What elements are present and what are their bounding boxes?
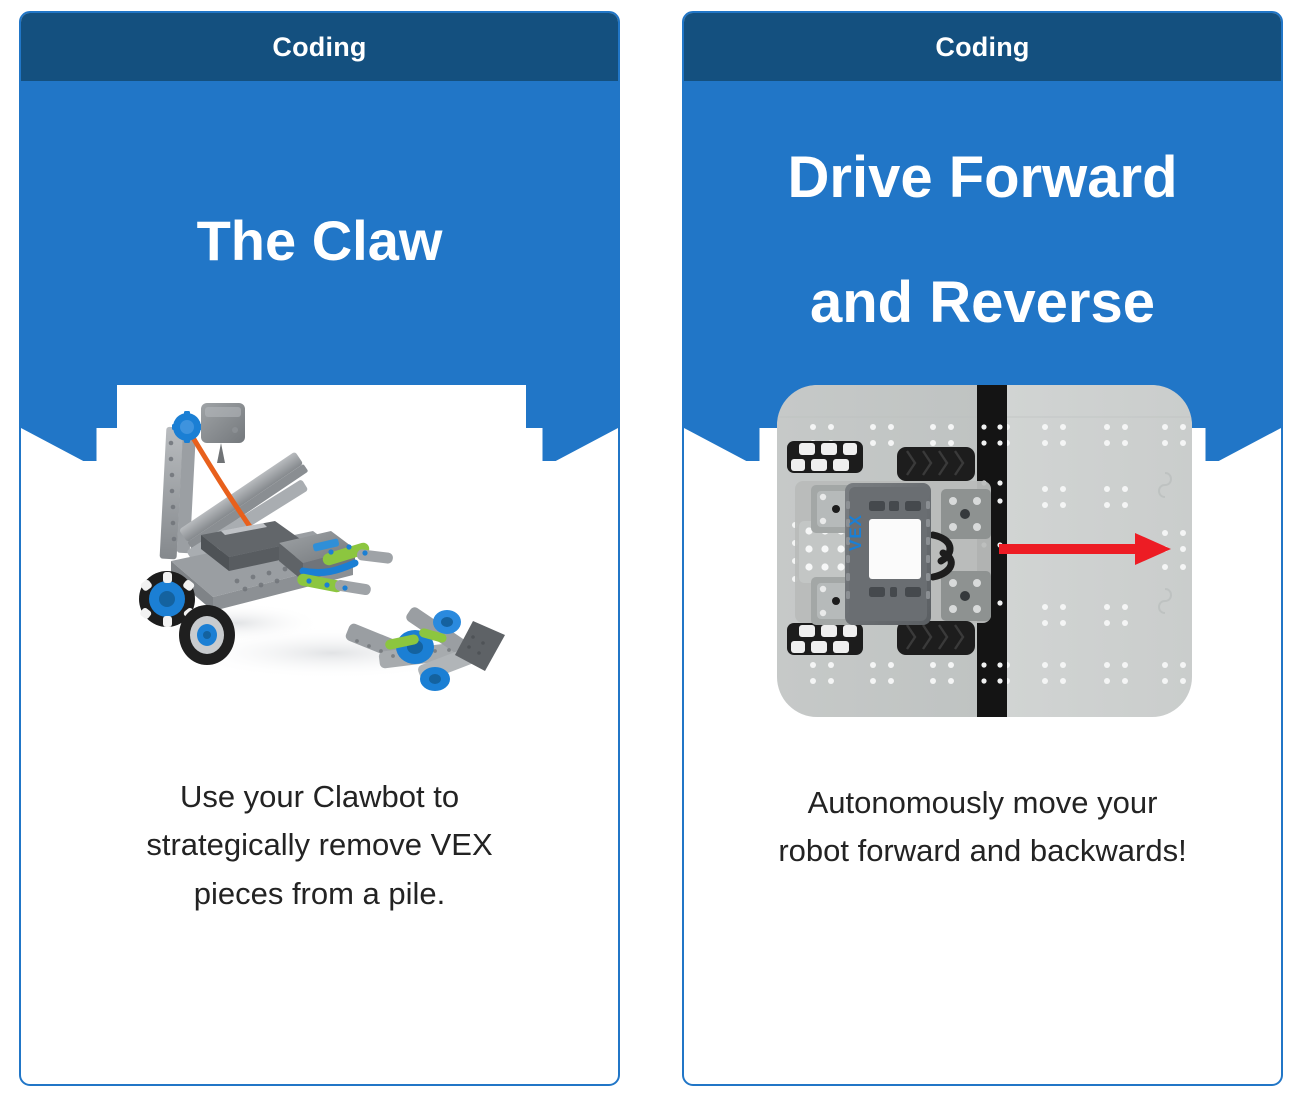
robot-top-view-illustration: VEX bbox=[777, 385, 1192, 717]
card-description: Use your Clawbot to strategically remove… bbox=[21, 773, 618, 918]
svg-text:VEX: VEX bbox=[846, 514, 865, 551]
card-description: Autonomously move your robot forward and… bbox=[684, 779, 1281, 876]
card-image-plate: VEX bbox=[777, 385, 1192, 717]
card-description-line-3: pieces from a pile. bbox=[79, 870, 560, 918]
card-description-line-2: strategically remove VEX bbox=[79, 821, 560, 869]
card-description-line-2: robot forward and backwards! bbox=[724, 827, 1241, 875]
activity-card-drive-forward-and-reverse[interactable]: Coding Drive Forward and Reverse bbox=[682, 11, 1283, 1086]
clawbot-illustration bbox=[117, 385, 526, 715]
card-category-header: Coding bbox=[21, 13, 618, 81]
card-image-plate bbox=[117, 385, 526, 715]
card-description-line-1: Use your Clawbot to bbox=[79, 773, 560, 821]
card-category-header: Coding bbox=[684, 13, 1281, 81]
activity-card-board: Coding The Claw bbox=[0, 0, 1316, 1118]
card-category-label: Coding bbox=[272, 34, 366, 61]
card-category-label: Coding bbox=[935, 34, 1029, 61]
card-description-line-1: Autonomously move your bbox=[724, 779, 1241, 827]
activity-card-the-claw[interactable]: Coding The Claw bbox=[19, 11, 620, 1086]
